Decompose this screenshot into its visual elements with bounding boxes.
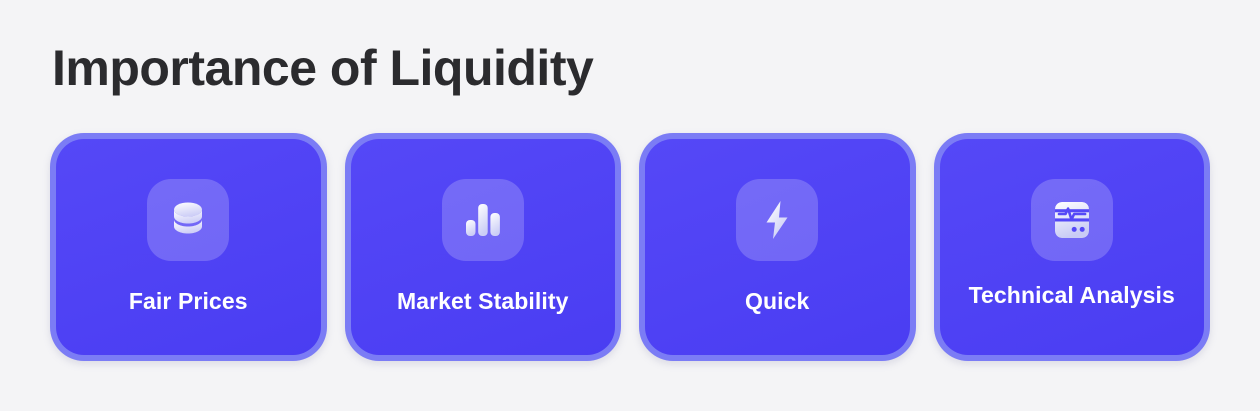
card-body: Quick	[645, 139, 910, 355]
card-label: Fair Prices	[117, 287, 260, 316]
feature-card-row: Fair Prices	[50, 133, 1210, 361]
page-title: Importance of Liquidity	[52, 38, 593, 98]
feature-card-market-stability[interactable]: Market Stability	[345, 133, 622, 361]
database-icon	[165, 197, 211, 243]
card-body: Fair Prices	[56, 139, 321, 355]
infographic-root: Importance of Liquidity	[0, 0, 1260, 411]
icon-tile	[147, 179, 229, 261]
card-body: Market Stability	[351, 139, 616, 355]
icon-tile	[736, 179, 818, 261]
card-label: Technical Analysis	[957, 281, 1187, 310]
feature-card-quick[interactable]: Quick	[639, 133, 916, 361]
feature-card-technical-analysis[interactable]: Technical Analysis	[934, 133, 1211, 361]
card-body: Technical Analysis	[940, 139, 1205, 355]
feature-card-fair-prices[interactable]: Fair Prices	[50, 133, 327, 361]
icon-tile	[442, 179, 524, 261]
lightning-bolt-icon	[754, 197, 800, 243]
card-label: Market Stability	[385, 287, 581, 316]
card-label: Quick	[733, 287, 821, 316]
bar-chart-icon	[460, 197, 506, 243]
icon-tile	[1031, 179, 1113, 261]
monitor-pulse-icon	[1049, 197, 1095, 243]
